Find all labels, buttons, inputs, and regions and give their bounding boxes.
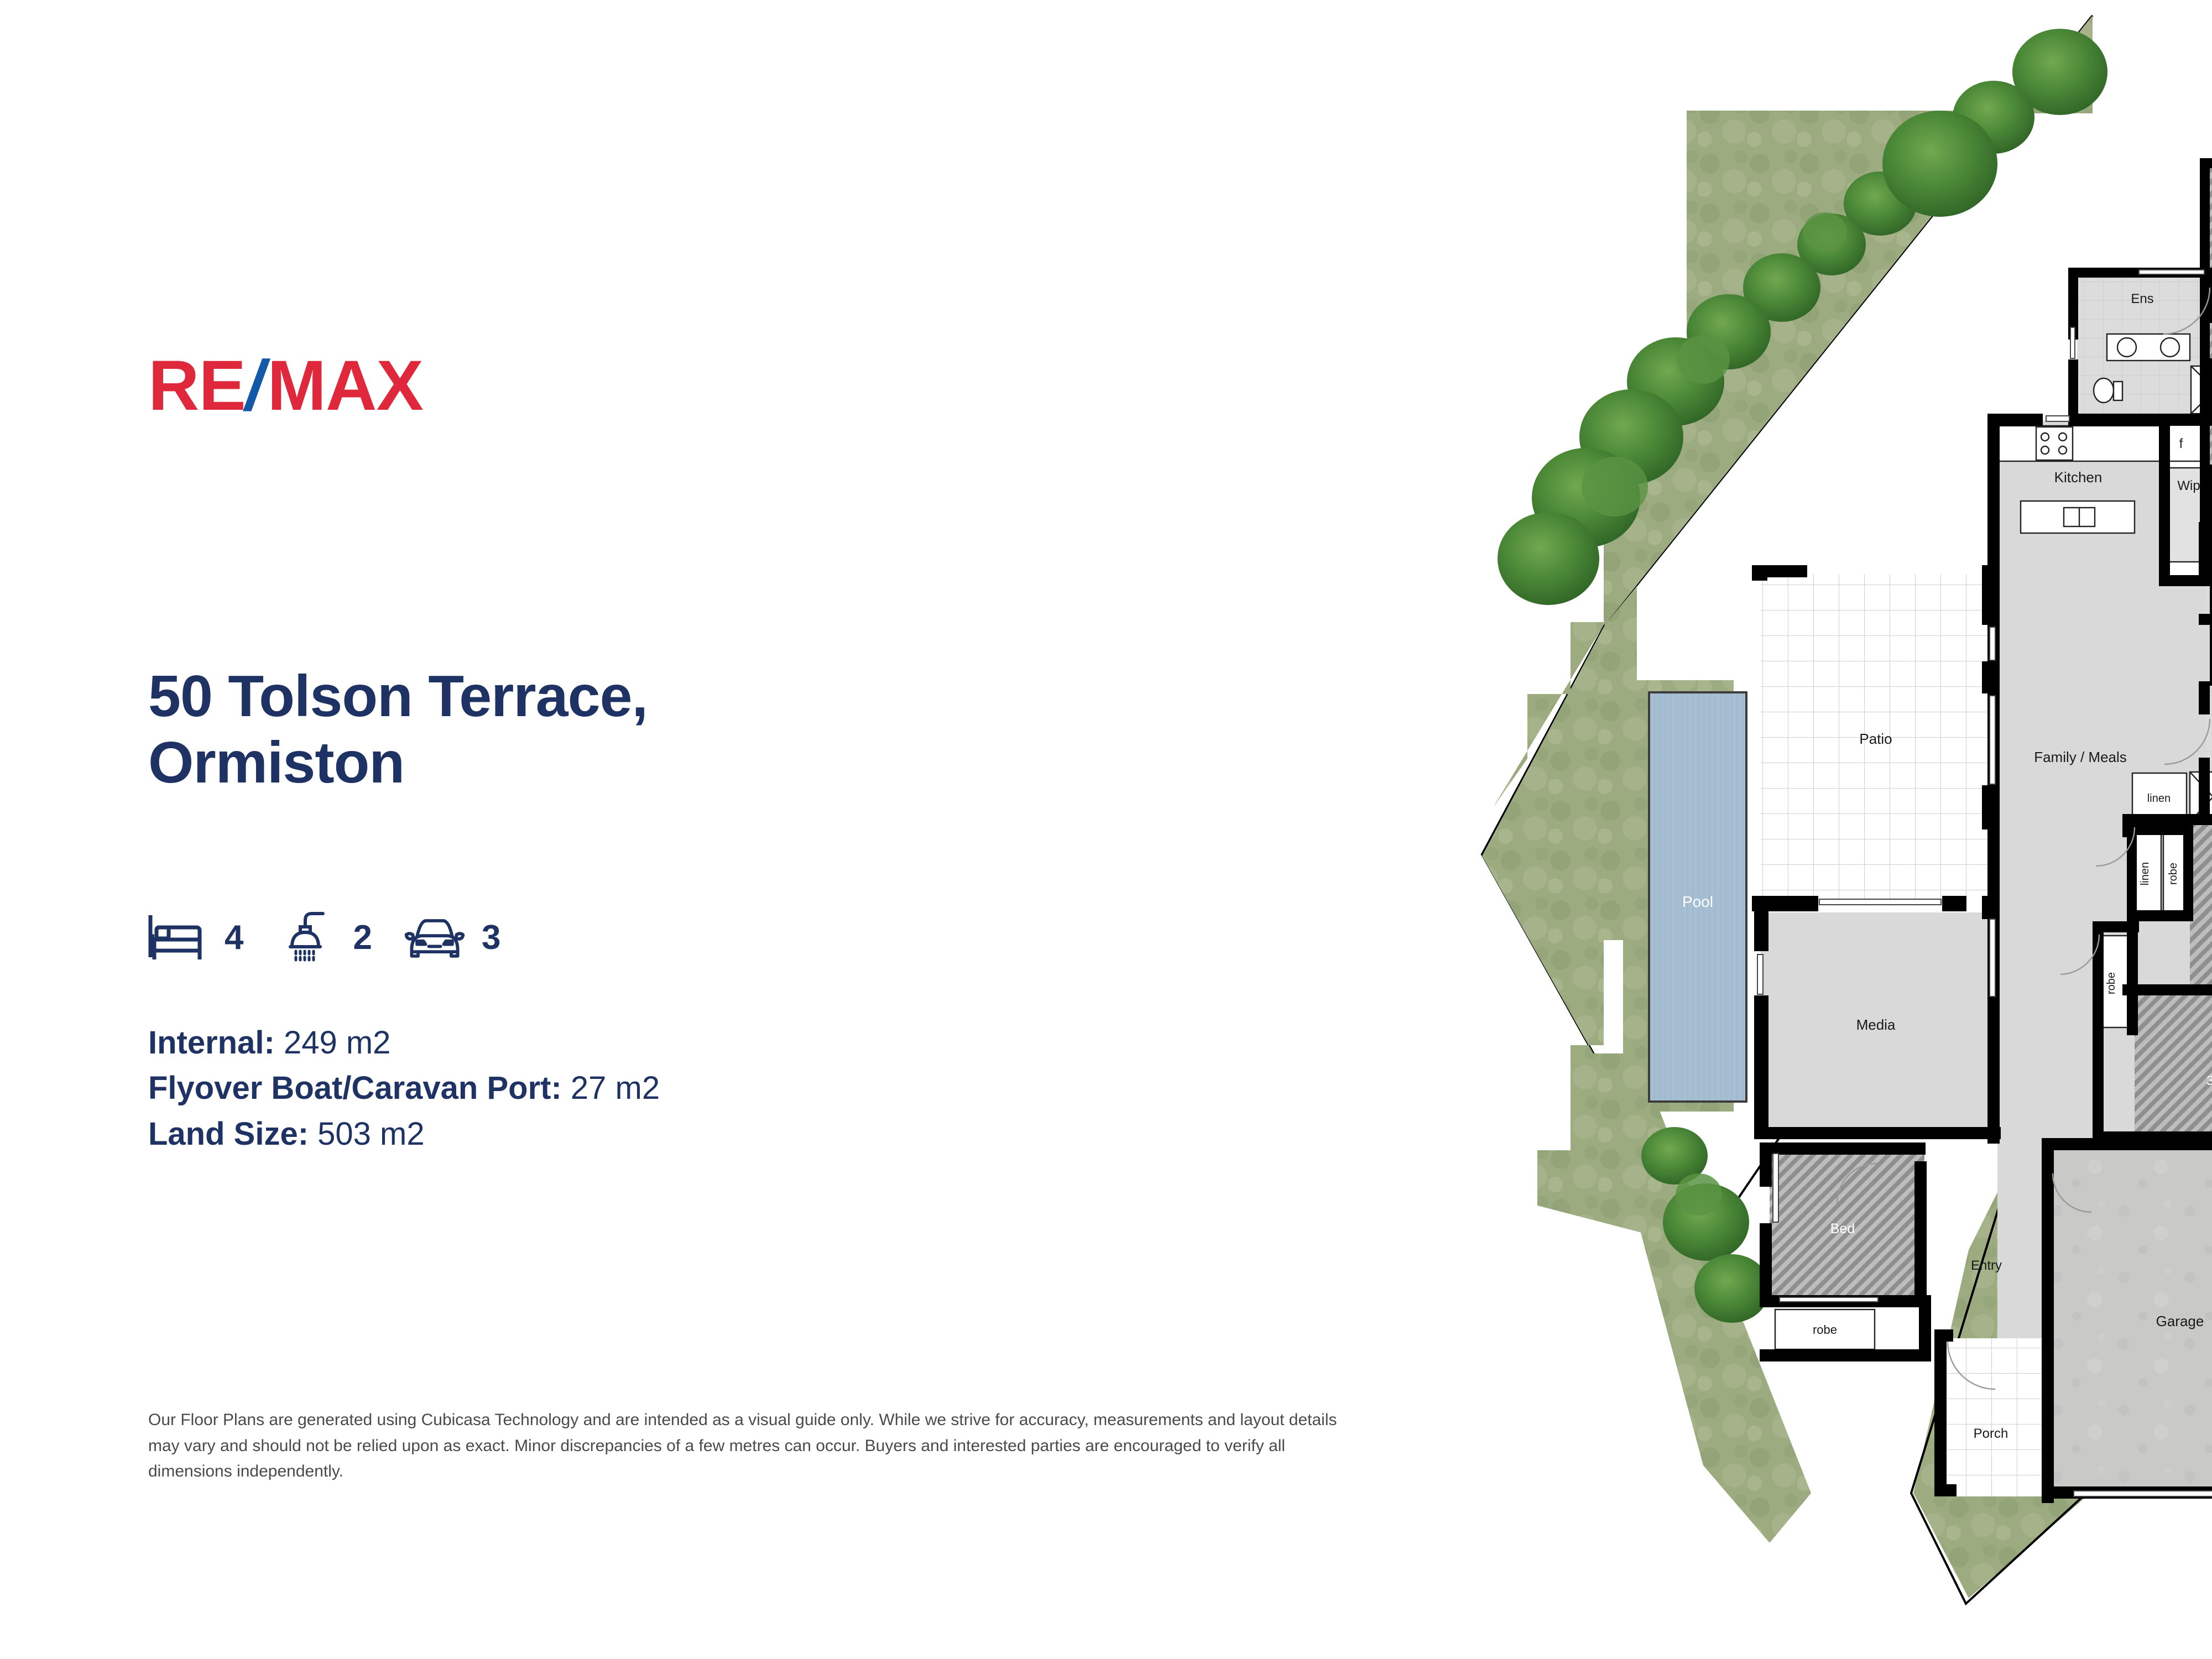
spec-port-label: Flyover Boat/Caravan Port: bbox=[148, 1070, 562, 1106]
carspaces-count: 3 bbox=[482, 918, 500, 957]
property-features: 4 2 bbox=[145, 901, 500, 973]
spec-internal: Internal: 249 m2 bbox=[148, 1020, 978, 1066]
spec-landsize: Land Size: 503 m2 bbox=[148, 1112, 978, 1157]
logo-text-max: MAX bbox=[267, 351, 422, 421]
room-label-robe-bed4: robe bbox=[1813, 1323, 1837, 1337]
room-label-entry: Entry bbox=[1971, 1258, 2002, 1273]
room-label-family-meals: Family / Meals bbox=[2034, 749, 2127, 765]
floor-bed3 bbox=[2135, 995, 2212, 1139]
remax-logo: RE / MAX bbox=[148, 347, 585, 425]
room-label-fridge: f bbox=[2179, 436, 2183, 451]
room-label-porch: Porch bbox=[1974, 1426, 2008, 1441]
tree-ne-canopy bbox=[1882, 111, 1997, 217]
feature-bedrooms: 4 bbox=[145, 911, 273, 964]
feature-bathrooms: 2 bbox=[273, 911, 401, 964]
spec-landsize-label: Land Size: bbox=[148, 1116, 309, 1152]
floorplan-drawing: Pool bbox=[1051, 0, 2212, 1659]
listing-info-panel: RE / MAX 50 Tolson Terrace, Ormiston bbox=[0, 0, 1051, 1659]
title-line-1: 50 Tolson Terrace, bbox=[148, 664, 978, 730]
spec-landsize-value: 503 m2 bbox=[317, 1116, 424, 1152]
spec-internal-value: 249 m2 bbox=[284, 1025, 390, 1061]
room-label-bed4: Bed bbox=[1830, 1221, 1855, 1237]
room-label-bed3-line2: 3.9 x 3.0 bbox=[2206, 1073, 2212, 1088]
room-label-linen-hall: linen bbox=[2139, 862, 2151, 885]
room-label-ens: Ens bbox=[2131, 291, 2153, 306]
logo-text-re: RE bbox=[148, 351, 246, 421]
kitchen-bench bbox=[1994, 426, 2160, 461]
spec-port-value: 27 m2 bbox=[571, 1070, 660, 1106]
title-line-2: Ormiston bbox=[148, 730, 978, 796]
room-label-robe-bed2: robe bbox=[2167, 863, 2179, 885]
room-label-wip: Wip bbox=[2177, 478, 2200, 493]
spec-internal-label: Internal: bbox=[148, 1025, 275, 1061]
room-pool: Pool bbox=[1649, 692, 1746, 1102]
ens-vanity bbox=[2107, 334, 2190, 361]
feature-carspaces: 3 bbox=[402, 911, 500, 964]
cooktop bbox=[2036, 427, 2073, 460]
bed-icon bbox=[145, 911, 210, 964]
car-icon bbox=[402, 911, 467, 964]
room-label-garage: Garage bbox=[2156, 1313, 2204, 1329]
floorplan-marketing-page: RE / MAX 50 Tolson Terrace, Ormiston bbox=[0, 0, 2212, 1659]
spec-port: Flyover Boat/Caravan Port: 27 m2 bbox=[148, 1066, 978, 1111]
page-title: 50 Tolson Terrace, Ormiston bbox=[148, 664, 978, 796]
room-label-pool: Pool bbox=[1682, 893, 1713, 910]
bedrooms-count: 4 bbox=[225, 918, 243, 957]
ens-toilet bbox=[2094, 378, 2114, 403]
room-label-robe-bed3: robe bbox=[2105, 972, 2117, 994]
room-label-linen-bath: linen bbox=[2147, 792, 2171, 805]
room-label-patio: Patio bbox=[1859, 731, 1892, 747]
room-label-media: Media bbox=[1856, 1016, 1896, 1033]
room-label-kitchen: Kitchen bbox=[2054, 469, 2103, 486]
floor-porch bbox=[1944, 1338, 2053, 1496]
shower-icon bbox=[273, 911, 338, 964]
bathrooms-count: 2 bbox=[353, 918, 372, 957]
property-specs: Internal: 249 m2 Flyover Boat/Caravan Po… bbox=[148, 1020, 978, 1157]
